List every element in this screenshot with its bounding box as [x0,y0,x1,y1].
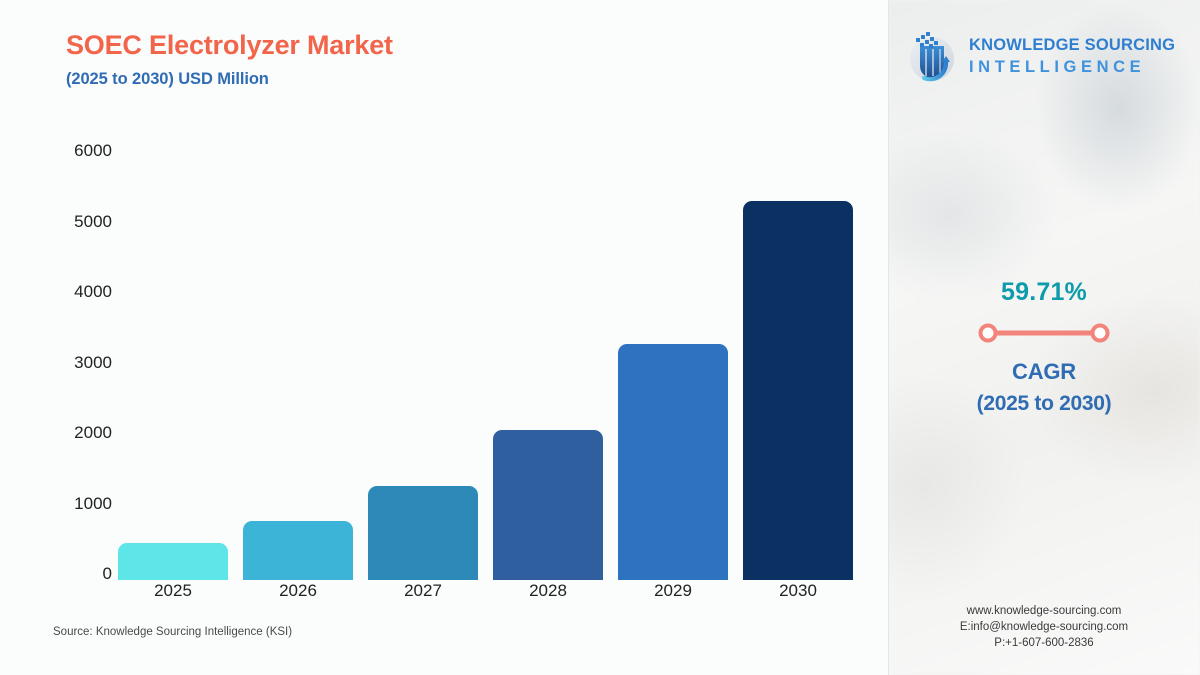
cagr-label: CAGR [888,359,1200,385]
contact-phone: P:+1-607-600-2836 [888,635,1200,651]
x-axis-label: 2027 [368,581,478,601]
x-axis-label: 2029 [618,581,728,601]
bar-series [118,146,853,580]
y-axis-tick: 4000 [74,282,112,302]
x-axis-label: 2025 [118,581,228,601]
contact-website[interactable]: www.knowledge-sourcing.com [888,603,1200,619]
brand-panel: KNOWLEDGE SOURCING INTELLIGENCE 59.71% C… [888,0,1200,675]
bar-slot [618,146,728,580]
bar-2030[interactable] [743,201,853,580]
y-axis-tick: 6000 [74,141,112,161]
infographic-root: SOEC Electrolyzer Market (2025 to 2030) … [0,0,1200,675]
bar-slot [493,146,603,580]
bar-slot [368,146,478,580]
contact-block: www.knowledge-sourcing.com E:info@knowle… [888,603,1200,651]
chart-panel: SOEC Electrolyzer Market (2025 to 2030) … [0,0,888,675]
x-axis-label: 2026 [243,581,353,601]
bar-2027[interactable] [368,486,478,580]
title-block: SOEC Electrolyzer Market (2025 to 2030) … [66,30,393,89]
contact-email[interactable]: E:info@knowledge-sourcing.com [888,619,1200,635]
bar-2026[interactable] [243,521,353,580]
cagr-block: 59.71% CAGR (2025 to 2030) [888,278,1200,416]
bar-2029[interactable] [618,344,728,580]
cagr-value: 59.71% [888,278,1200,307]
y-axis-tick: 2000 [74,423,112,443]
bar-2025[interactable] [118,543,228,580]
logo-wordmark: KNOWLEDGE SOURCING INTELLIGENCE [969,37,1175,75]
y-axis-tick: 5000 [74,212,112,232]
source-note: Source: Knowledge Sourcing Intelligence … [53,626,292,638]
logo-line-2: INTELLIGENCE [969,59,1175,76]
bar-slot [243,146,353,580]
y-axis-tick: 0 [103,564,112,584]
cagr-rule-icon [976,322,1112,344]
company-logo: KNOWLEDGE SOURCING INTELLIGENCE [904,28,1175,84]
x-axis-label: 2030 [743,581,853,601]
bar-slot [743,146,853,580]
cagr-period: (2025 to 2030) [888,392,1200,416]
y-axis-tick: 1000 [74,494,112,514]
x-axis: 202520262027202820292030 [118,581,853,601]
bar-2028[interactable] [493,430,603,580]
knowledge-sourcing-logo-icon [904,28,960,84]
x-axis-label: 2028 [493,581,603,601]
y-axis: 6000500040003000200010000 [0,140,112,580]
logo-line-1: KNOWLEDGE SOURCING [969,37,1175,54]
chart-subtitle: (2025 to 2030) USD Million [66,70,393,89]
bar-slot [118,146,228,580]
chart-title: SOEC Electrolyzer Market [66,30,393,61]
plot-area: 6000500040003000200010000 20252026202720… [0,140,888,580]
y-axis-tick: 3000 [74,353,112,373]
